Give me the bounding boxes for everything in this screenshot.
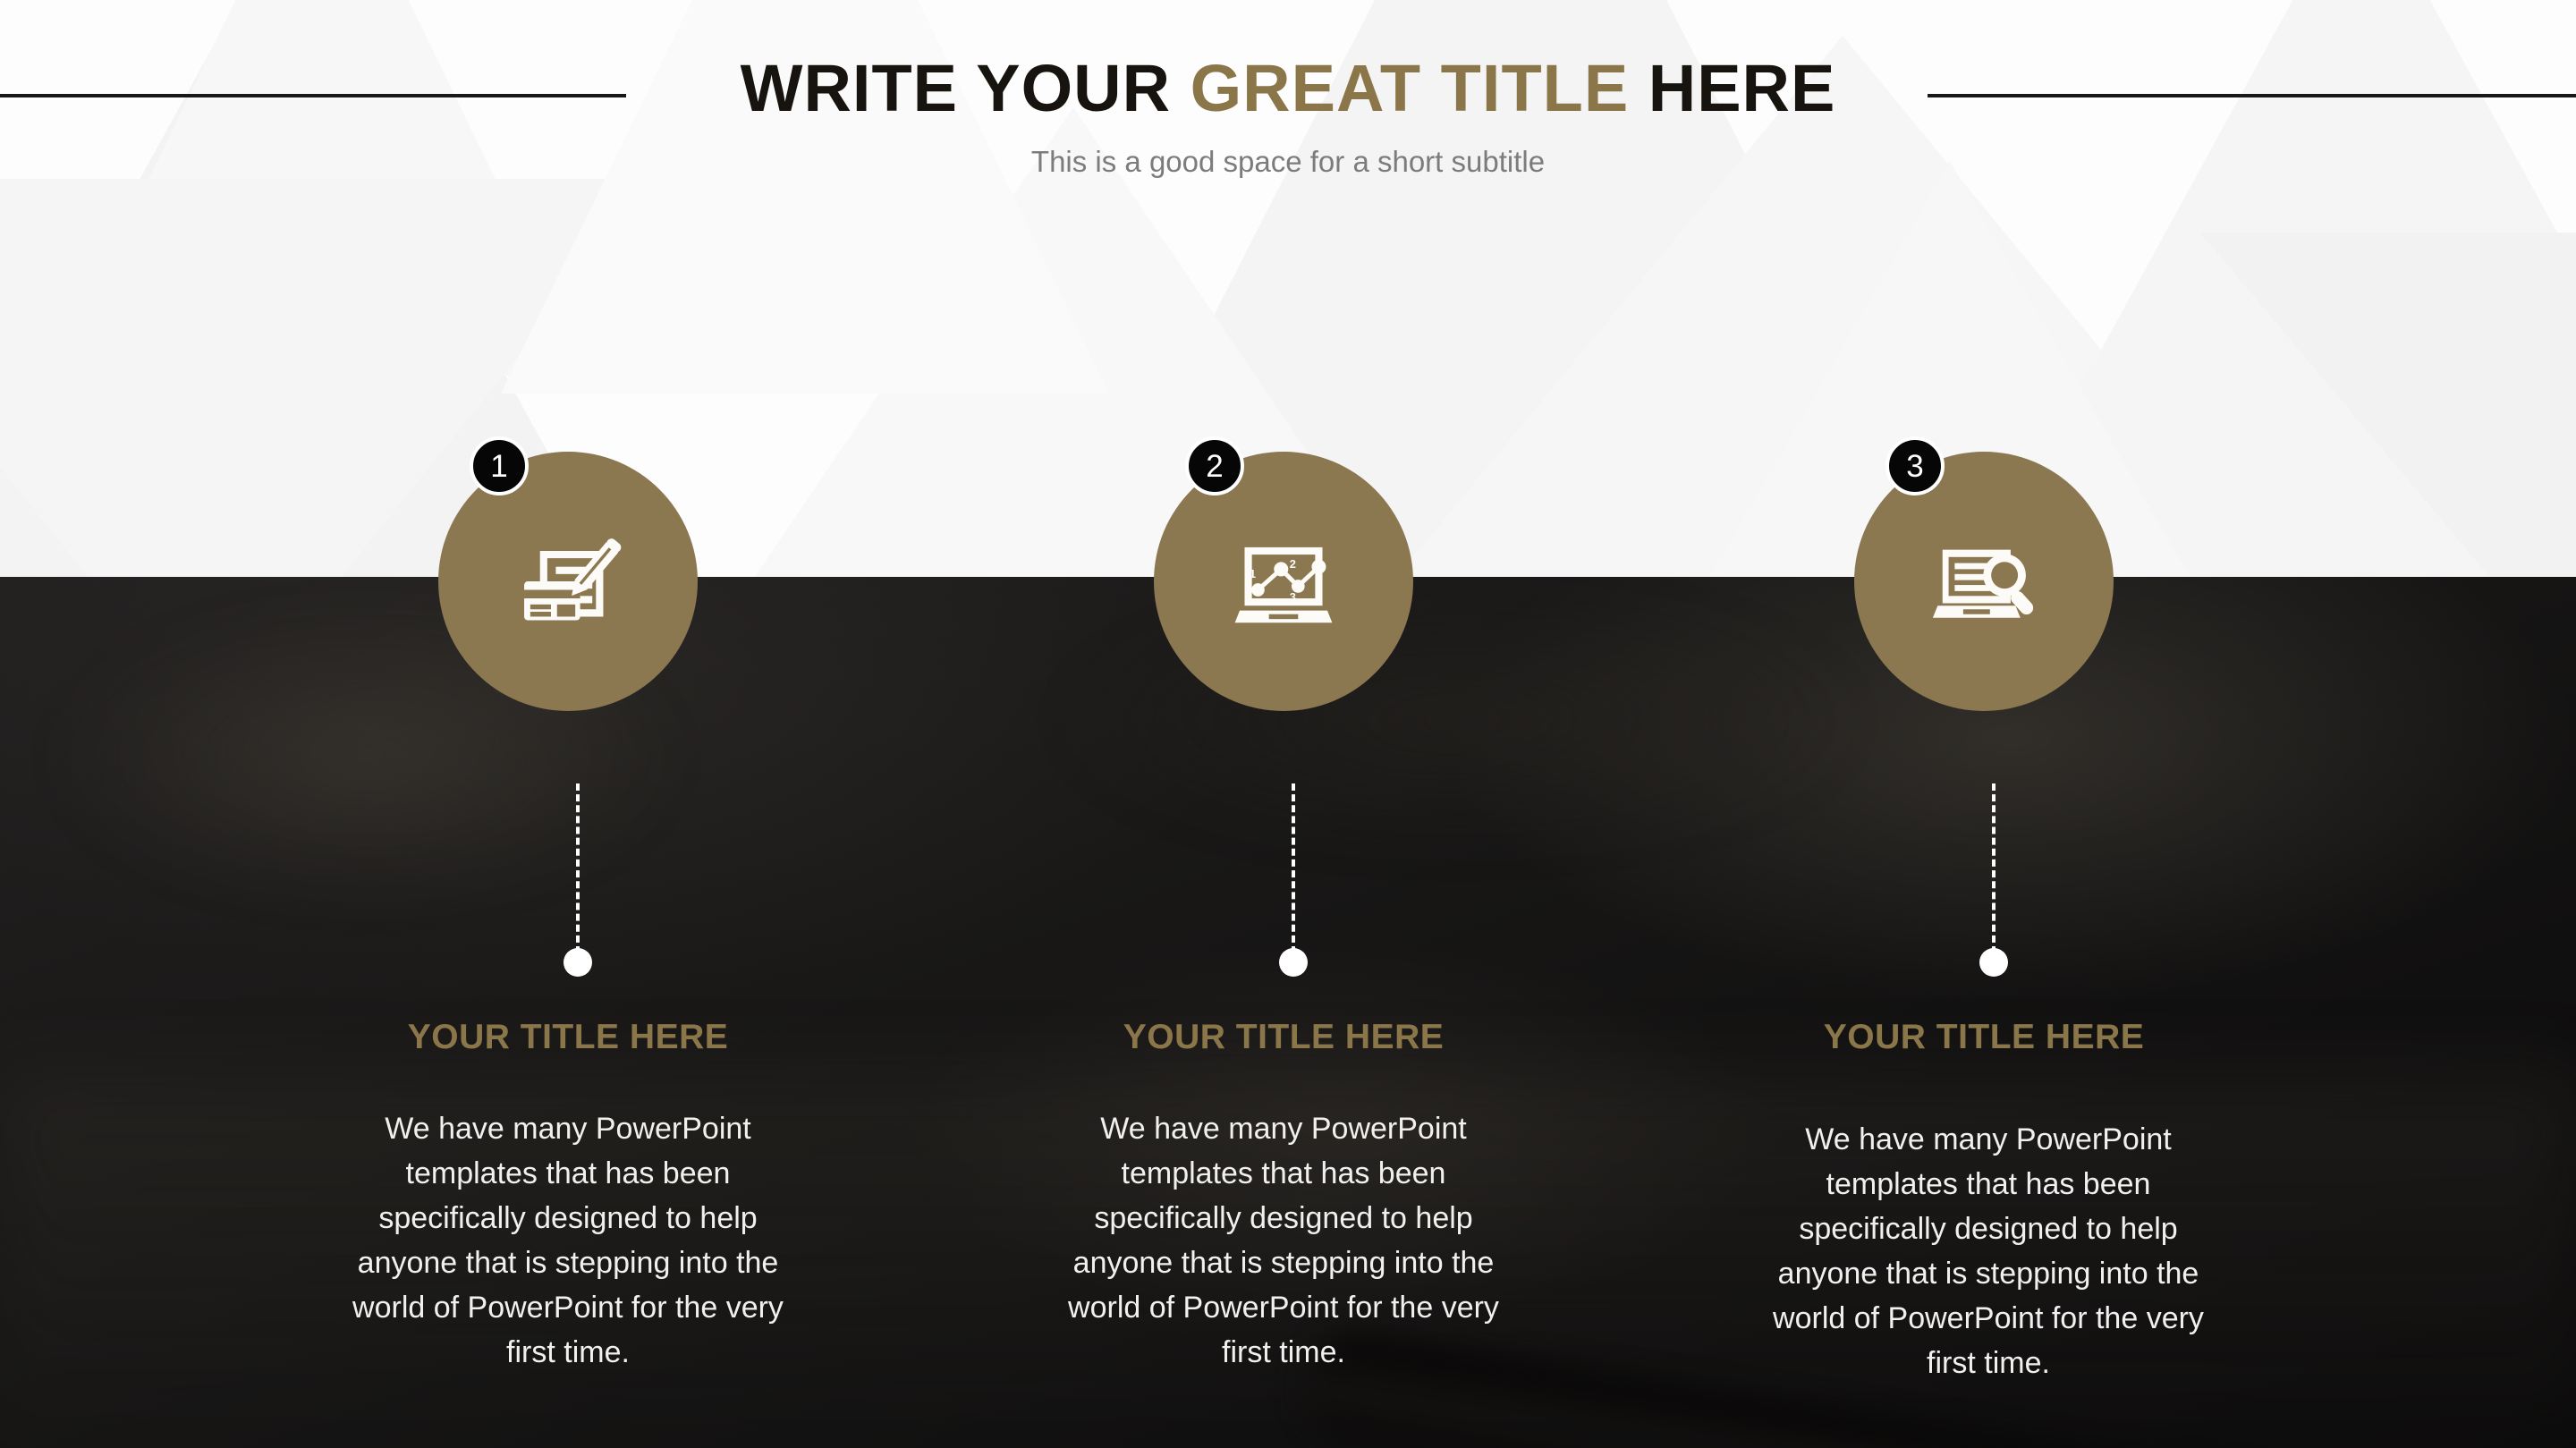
step-number-badge-3: 3 [1885, 436, 1945, 495]
connector-dot-1 [563, 948, 592, 977]
connector-dot-3 [1979, 948, 2008, 977]
connector-dashed-line-1 [576, 783, 580, 953]
connector-dot-2 [1279, 948, 1308, 977]
step-body-1: We have many PowerPoint templates that h… [344, 1107, 792, 1376]
check-pencil-icon [438, 452, 698, 711]
connector-dashed-line-2 [1292, 783, 1295, 953]
title-text-trailing: HERE [1629, 51, 1835, 125]
title-text-accent: GREAT TITLE [1191, 51, 1630, 125]
step-number-badge-1: 1 [470, 436, 529, 495]
polygon-shape [2200, 233, 2576, 577]
step-title-1: YOUR TITLE HERE [318, 1020, 818, 1054]
page-subtitle: This is a good space for a short subtitl… [0, 147, 2576, 176]
step-title-2: YOUR TITLE HERE [1033, 1020, 1534, 1054]
step-number-badge-2: 2 [1185, 436, 1244, 495]
step-title-3: YOUR TITLE HERE [1733, 1020, 2234, 1054]
connector-dashed-line-3 [1992, 783, 1996, 953]
chart-point-label-2: 2 [1290, 557, 1296, 571]
step-body-3: We have many PowerPoint templates that h… [1769, 1118, 2207, 1386]
chart-point-label-4: 4 [1315, 545, 1322, 558]
slide: WRITE YOUR GREAT TITLE HERE This is a go… [0, 0, 2576, 1448]
chart-point-label-3: 3 [1290, 590, 1296, 604]
step-body-2: We have many PowerPoint templates that h… [1060, 1107, 1507, 1376]
step-icon-container-3[interactable]: 3 [1854, 452, 2114, 711]
laptop-search-icon [1854, 452, 2114, 711]
page-title: WRITE YOUR GREAT TITLE HERE [0, 55, 2576, 122]
step-icon-container-1[interactable]: 1 [438, 452, 698, 711]
step-icon-container-2[interactable]: 1 2 3 4 2 [1154, 452, 1413, 711]
laptop-line-chart-icon: 1 2 3 4 [1154, 452, 1413, 711]
chart-point-label-1: 1 [1250, 567, 1256, 580]
title-text-leading: WRITE YOUR [741, 51, 1191, 125]
